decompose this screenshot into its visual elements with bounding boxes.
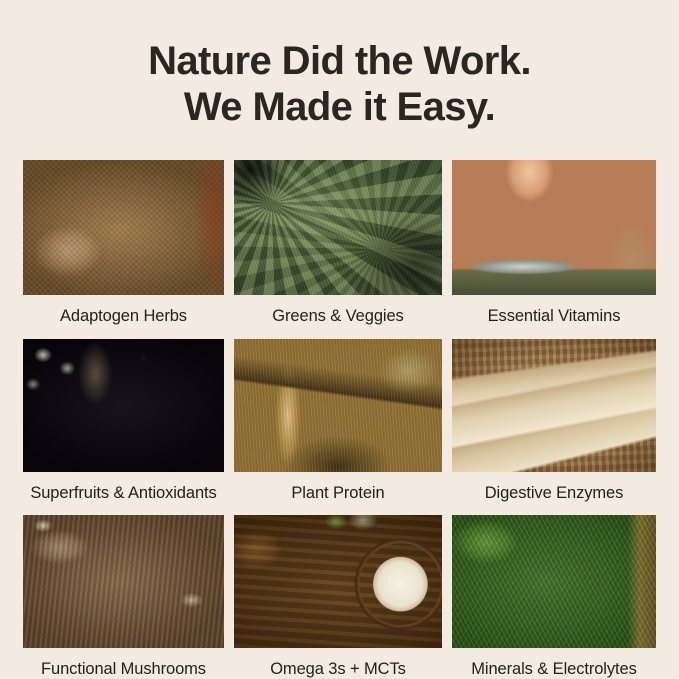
caption-greens-and-veggies: Greens & Veggies (272, 295, 403, 339)
grid-cell-digestive-enzymes: Digestive Enzymes (452, 339, 656, 516)
grid-cell-greens-and-veggies: Greens & Veggies (234, 160, 442, 339)
adaptogen-herbs-thumbnail (23, 160, 224, 295)
minerals-electrolytes-photo (452, 515, 656, 648)
caption-plant-protein: Plant Protein (291, 472, 384, 516)
digestive-enzymes-photo (452, 339, 656, 472)
caption-digestive-enzymes: Digestive Enzymes (485, 472, 624, 516)
page-title: Nature Did the Work. We Made it Easy. (0, 38, 679, 131)
omega-3s-mcts-thumbnail (234, 515, 442, 648)
ingredient-grid: Adaptogen Herbs Greens & Veggies Essenti… (23, 160, 656, 679)
minerals-electrolytes-thumbnail (452, 515, 656, 648)
functional-mushrooms-photo (23, 515, 224, 648)
adaptogen-herbs-photo (23, 160, 224, 295)
grid-cell-adaptogen-herbs: Adaptogen Herbs (23, 160, 224, 339)
greens-and-veggies-thumbnail (234, 160, 442, 295)
grid-cell-omega-3s-mcts: Omega 3s + MCTs (234, 515, 442, 679)
caption-superfruits-antioxidants: Superfruits & Antioxidants (30, 472, 216, 516)
superfruits-antioxidants-photo (23, 339, 224, 472)
grid-cell-essential-vitamins: Essential Vitamins (452, 160, 656, 339)
caption-adaptogen-herbs: Adaptogen Herbs (60, 295, 187, 339)
plant-protein-thumbnail (234, 339, 442, 472)
grid-cell-functional-mushrooms: Functional Mushrooms (23, 515, 224, 679)
digestive-enzymes-thumbnail (452, 339, 656, 472)
grid-cell-minerals-electrolytes: Minerals & Electrolytes (452, 515, 656, 679)
essential-vitamins-photo (452, 160, 656, 295)
caption-omega-3s-mcts: Omega 3s + MCTs (270, 648, 406, 679)
greens-and-veggies-photo (234, 160, 442, 295)
headline-line-1: Nature Did the Work. (0, 38, 679, 84)
caption-minerals-electrolytes: Minerals & Electrolytes (471, 648, 637, 679)
plant-protein-photo (234, 339, 442, 472)
headline-line-2: We Made it Easy. (0, 84, 679, 130)
grid-cell-superfruits-antioxidants: Superfruits & Antioxidants (23, 339, 224, 516)
superfruits-antioxidants-thumbnail (23, 339, 224, 472)
omega-3s-mcts-photo (234, 515, 442, 648)
functional-mushrooms-thumbnail (23, 515, 224, 648)
ingredient-benefits-poster: Nature Did the Work. We Made it Easy. Ad… (0, 0, 679, 679)
caption-functional-mushrooms: Functional Mushrooms (41, 648, 206, 679)
essential-vitamins-thumbnail (452, 160, 656, 295)
caption-essential-vitamins: Essential Vitamins (488, 295, 621, 339)
grid-cell-plant-protein: Plant Protein (234, 339, 442, 516)
